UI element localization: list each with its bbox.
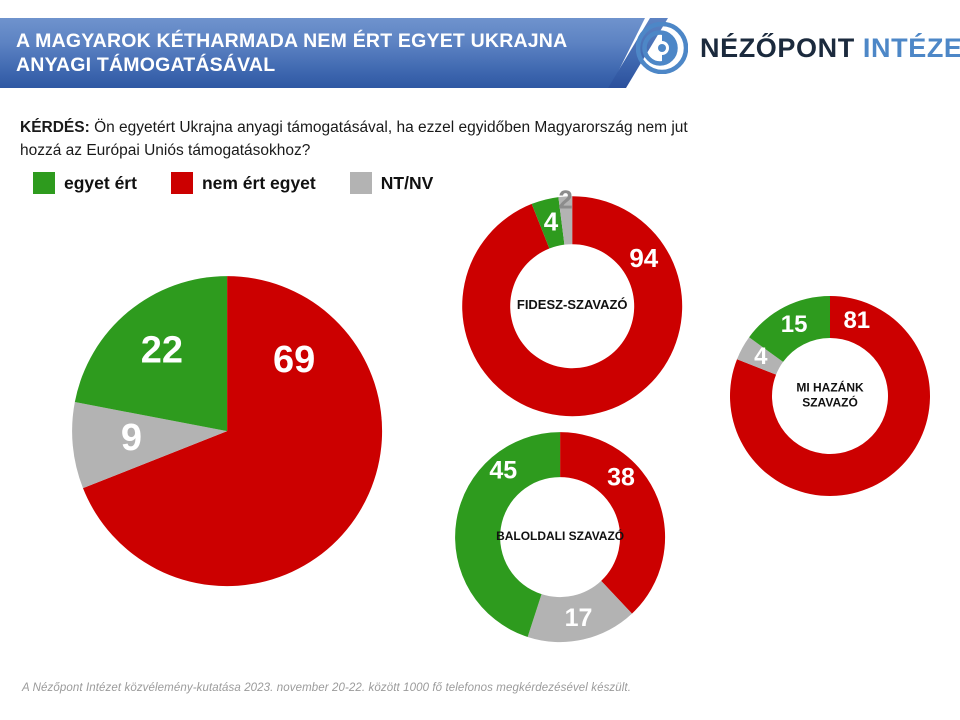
logo-word-primary: NÉZŐPONT bbox=[700, 33, 855, 63]
legend-label-disagree: nem ért egyet bbox=[202, 173, 316, 194]
slice-value-label: 22 bbox=[141, 329, 183, 371]
slice-value-label: 69 bbox=[273, 339, 315, 381]
question-text: KÉRDÉS: Ön egyetért Ukrajna anyagi támog… bbox=[20, 116, 720, 163]
slice-value-label: 94 bbox=[629, 243, 658, 273]
donut-chart-fidesz-voters: 9442FIDESZ-SZAVAZÓ bbox=[438, 172, 706, 440]
question-label: KÉRDÉS: bbox=[20, 119, 90, 136]
legend-label-agree: egyet ért bbox=[64, 173, 137, 194]
legend-swatch-disagree bbox=[171, 172, 193, 194]
question-body: Ön egyetért Ukrajna anyagi támogatásával… bbox=[20, 119, 688, 159]
title-banner-shape: A MAGYAROK KÉTHARMADA NEM ÉRT EGYET UKRA… bbox=[0, 18, 645, 88]
slice-value-label: 2 bbox=[558, 184, 572, 214]
brand-logo: NÉZŐPONT INTÉZET bbox=[636, 22, 960, 74]
slice-value-label: 15 bbox=[781, 311, 808, 338]
logo-word-secondary: INTÉZET bbox=[863, 33, 960, 63]
slice-value-label: 4 bbox=[754, 343, 768, 370]
legend-swatch-dontknow bbox=[350, 172, 372, 194]
donut-center-label: BALOLDALI SZAVAZÓ bbox=[496, 528, 624, 543]
donut-chart-leftwing-voters: 381745BALOLDALI SZAVAZÓ bbox=[432, 409, 688, 665]
slice-value-label: 4 bbox=[544, 206, 559, 236]
legend-item-dontknow: NT/NV bbox=[350, 172, 434, 194]
legend-item-agree: egyet ért bbox=[33, 172, 137, 194]
donut-center-label: FIDESZ-SZAVAZÓ bbox=[517, 297, 628, 312]
slice-value-label: 81 bbox=[843, 307, 870, 334]
slice-value-label: 45 bbox=[489, 456, 517, 484]
eye-target-icon bbox=[636, 22, 688, 74]
slice-value-label: 38 bbox=[607, 464, 635, 492]
legend: egyet ért nem ért egyet NT/NV bbox=[33, 172, 467, 194]
slice-value-label: 9 bbox=[121, 417, 142, 459]
pie-chart-total: 69922 bbox=[38, 242, 416, 620]
legend-swatch-agree bbox=[33, 172, 55, 194]
pie-slice bbox=[560, 432, 665, 614]
donut-chart-mihazank-voters: 81415MI HAZÁNKSZAVAZÓ bbox=[708, 274, 952, 518]
methodology-note: A Nézőpont Intézet közvélemény-kutatása … bbox=[22, 682, 631, 694]
page-title: A MAGYAROK KÉTHARMADA NEM ÉRT EGYET UKRA… bbox=[0, 29, 645, 78]
donut-center-label: MI HAZÁNKSZAVAZÓ bbox=[796, 380, 864, 410]
slice-value-label: 17 bbox=[565, 604, 593, 632]
logo-wordmark: NÉZŐPONT INTÉZET bbox=[700, 33, 960, 64]
legend-item-disagree: nem ért egyet bbox=[171, 172, 316, 194]
legend-label-dontknow: NT/NV bbox=[381, 173, 434, 194]
